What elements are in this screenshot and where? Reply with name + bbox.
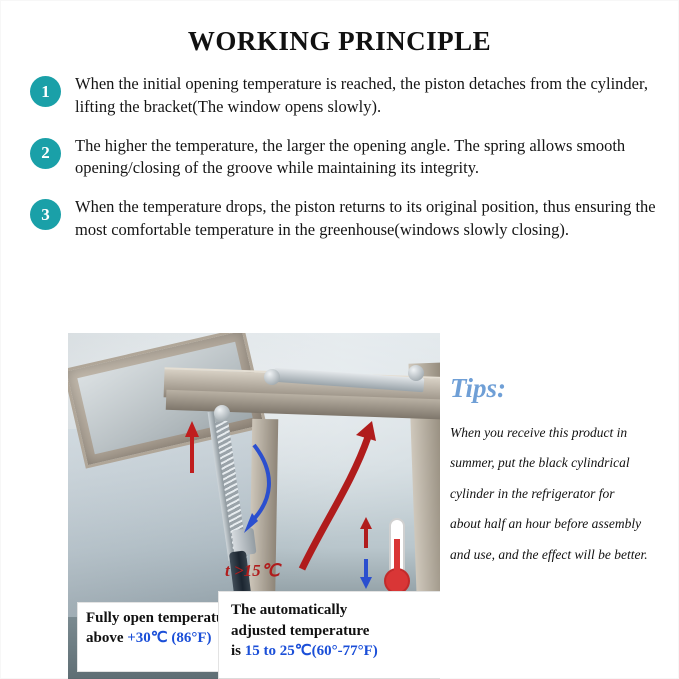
- step-text: The higher the temperature, the larger t…: [75, 135, 670, 181]
- list-item: 1 When the initial opening temperature i…: [30, 73, 671, 119]
- step-number-badge: 3: [30, 199, 61, 230]
- tips-line: cylinder in the refrigerator for: [450, 479, 679, 509]
- caption-left-value: +30℃ (86°F): [127, 630, 211, 646]
- tips-line: summer, put the black cylindrical: [450, 448, 679, 478]
- temperature-threshold-label: t >15℃: [225, 561, 280, 581]
- tips-panel: Tips: When you receive this product in s…: [440, 333, 679, 679]
- arrow-up-red-small-icon: [360, 517, 372, 548]
- caption-right-line2: adjusted temperature: [231, 621, 441, 642]
- arrow-down-blue-icon: [360, 559, 372, 589]
- step-text: When the temperature drops, the piston r…: [75, 196, 670, 242]
- tips-line: about half an hour before assembly: [450, 509, 679, 539]
- caption-left-prefix: above: [86, 630, 127, 646]
- page-title: WORKING PRINCIPLE: [0, 0, 679, 57]
- tips-line: When you receive this product in: [450, 418, 679, 448]
- caption-right-line1: The automatically: [231, 600, 441, 621]
- principle-steps-list: 1 When the initial opening temperature i…: [0, 73, 679, 242]
- tips-line: and use, and the effect will be better.: [450, 540, 679, 570]
- arrow-up-red-icon: [185, 421, 199, 473]
- list-item: 2 The higher the temperature, the larger…: [30, 135, 671, 181]
- page-root: WORKING PRINCIPLE 1 When the initial ope…: [0, 0, 679, 679]
- caption-right-value: 15 to 25℃(60°-77°F): [245, 643, 378, 659]
- thermometer-icon: [385, 519, 409, 593]
- step-text: When the initial opening temperature is …: [75, 73, 670, 119]
- caption-right-prefix: is: [231, 643, 245, 659]
- step-number-badge: 1: [30, 76, 61, 107]
- caption-right-line3: is 15 to 25℃(60°-77°F): [231, 641, 441, 662]
- caption-auto-adjusted-temperature: The automatically adjusted temperature i…: [218, 591, 448, 679]
- tips-body: When you receive this product in summer,…: [450, 418, 679, 570]
- list-item: 3 When the temperature drops, the piston…: [30, 196, 671, 242]
- product-photo: t >15℃ Fully open temperature above +30℃…: [68, 333, 679, 679]
- tips-heading: Tips:: [450, 373, 679, 404]
- step-number-badge: 2: [30, 138, 61, 169]
- arrow-curve-blue-icon: [244, 445, 269, 533]
